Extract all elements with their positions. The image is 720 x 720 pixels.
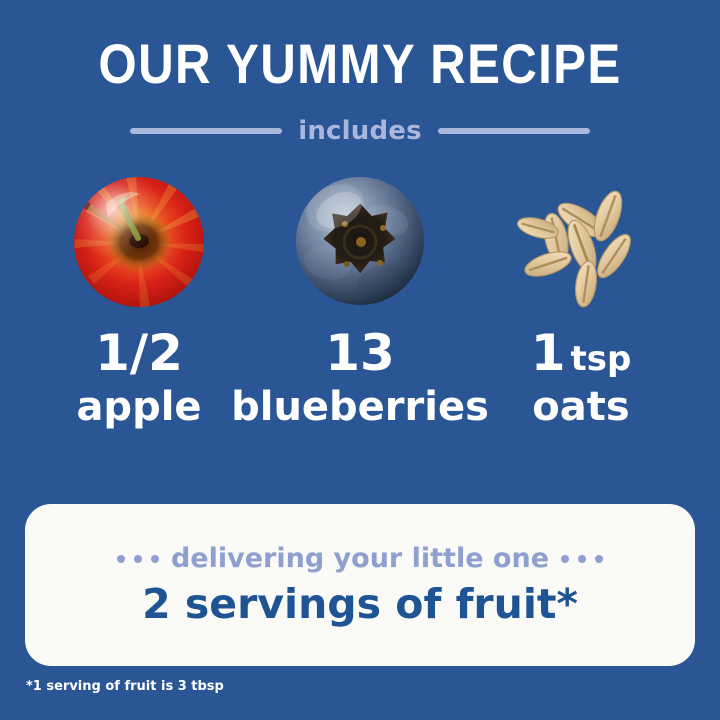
dot-icon [561,555,569,563]
oats-label: oats [532,386,629,428]
dots-left [117,555,159,563]
page-title: OUR YUMMY RECIPE [43,36,677,92]
divider-rule-right [438,128,590,134]
ingredient-blueberry: 13 blueberries [255,168,465,428]
blueberry-quantity-value: 13 [325,328,395,378]
servings-card: delivering your little one 2 servings of… [25,504,695,666]
blueberry-image [287,168,433,314]
footnote: *1 serving of fruit is 3 tbsp [26,680,224,693]
oats-image [508,168,654,314]
servings-headline: 2 servings of fruit* [142,584,578,625]
servings-subtitle-row: delivering your little one [117,545,603,572]
apple-quantity: 1/2 [95,328,183,378]
servings-subtitle: delivering your little one [171,545,549,572]
oats-quantity-value: 1 [531,328,566,378]
includes-label: includes [298,118,422,144]
dot-icon [595,555,603,563]
divider-rule-left [130,128,282,134]
blueberry-label: blueberries [231,386,489,428]
ingredient-oats: 1 tsp oats [476,168,686,428]
dots-right [561,555,603,563]
apple-label: apple [76,386,201,428]
dot-icon [117,555,125,563]
includes-divider: includes [0,118,720,144]
oats-quantity: 1 tsp [531,328,632,378]
blueberry-quantity: 13 [325,328,395,378]
dot-icon [578,555,586,563]
dot-icon [151,555,159,563]
apple-image [66,168,212,314]
apple-quantity-value: 1/2 [95,328,183,378]
ingredient-list: 1/2 apple [34,168,686,428]
recipe-infographic: OUR YUMMY RECIPE includes [0,0,720,720]
ingredient-apple: 1/2 apple [34,168,244,428]
dot-icon [134,555,142,563]
oats-quantity-unit: tsp [570,342,631,376]
